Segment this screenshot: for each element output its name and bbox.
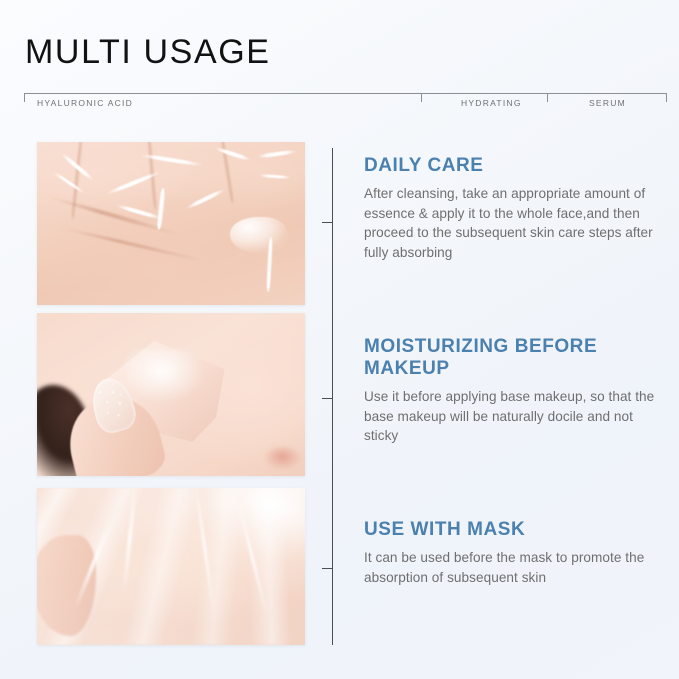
photo-moisturizing-before-makeup <box>37 313 305 476</box>
section-body-daily-care: After cleansing, take an appropriate amo… <box>364 184 656 262</box>
header-rule <box>24 93 667 94</box>
header-label-row: HYALURONIC ACID HYDRATING SERUM <box>24 98 667 114</box>
palm-detail-layer <box>37 142 305 305</box>
multi-usage-infographic: MULTI USAGE HYALURONIC ACID HYDRATING SE… <box>0 0 679 679</box>
divider-tick-3 <box>322 568 333 569</box>
lip-blur <box>265 447 300 470</box>
header-label-hydrating: HYDRATING <box>461 98 522 108</box>
section-title-daily-care: DAILY CARE <box>364 155 656 177</box>
section-daily-care: DAILY CARE After cleansing, take an appr… <box>364 155 656 262</box>
header-label-serum: SERUM <box>589 98 626 108</box>
section-use-with-mask: USE WITH MASK It can be used before the … <box>364 519 656 587</box>
section-moisturizing-before-makeup: MOISTURIZING BEFORE MAKEUP Use it before… <box>364 336 656 446</box>
section-body-moisturizing-before-makeup: Use it before applying base makeup, so t… <box>364 387 656 445</box>
divider-tick-2 <box>322 398 333 399</box>
section-title-use-with-mask: USE WITH MASK <box>364 519 656 541</box>
section-body-use-with-mask: It can be used before the mask to promot… <box>364 548 656 587</box>
page-title: MULTI USAGE <box>25 33 271 72</box>
sponge-highlight <box>125 349 205 404</box>
mask-sheen <box>37 488 305 645</box>
photo-daily-care <box>37 142 305 305</box>
photo-use-with-mask <box>37 488 305 645</box>
header-label-hyaluronic-acid: HYALURONIC ACID <box>37 98 133 108</box>
section-title-moisturizing-before-makeup: MOISTURIZING BEFORE MAKEUP <box>364 336 656 380</box>
divider-tick-1 <box>322 222 333 223</box>
